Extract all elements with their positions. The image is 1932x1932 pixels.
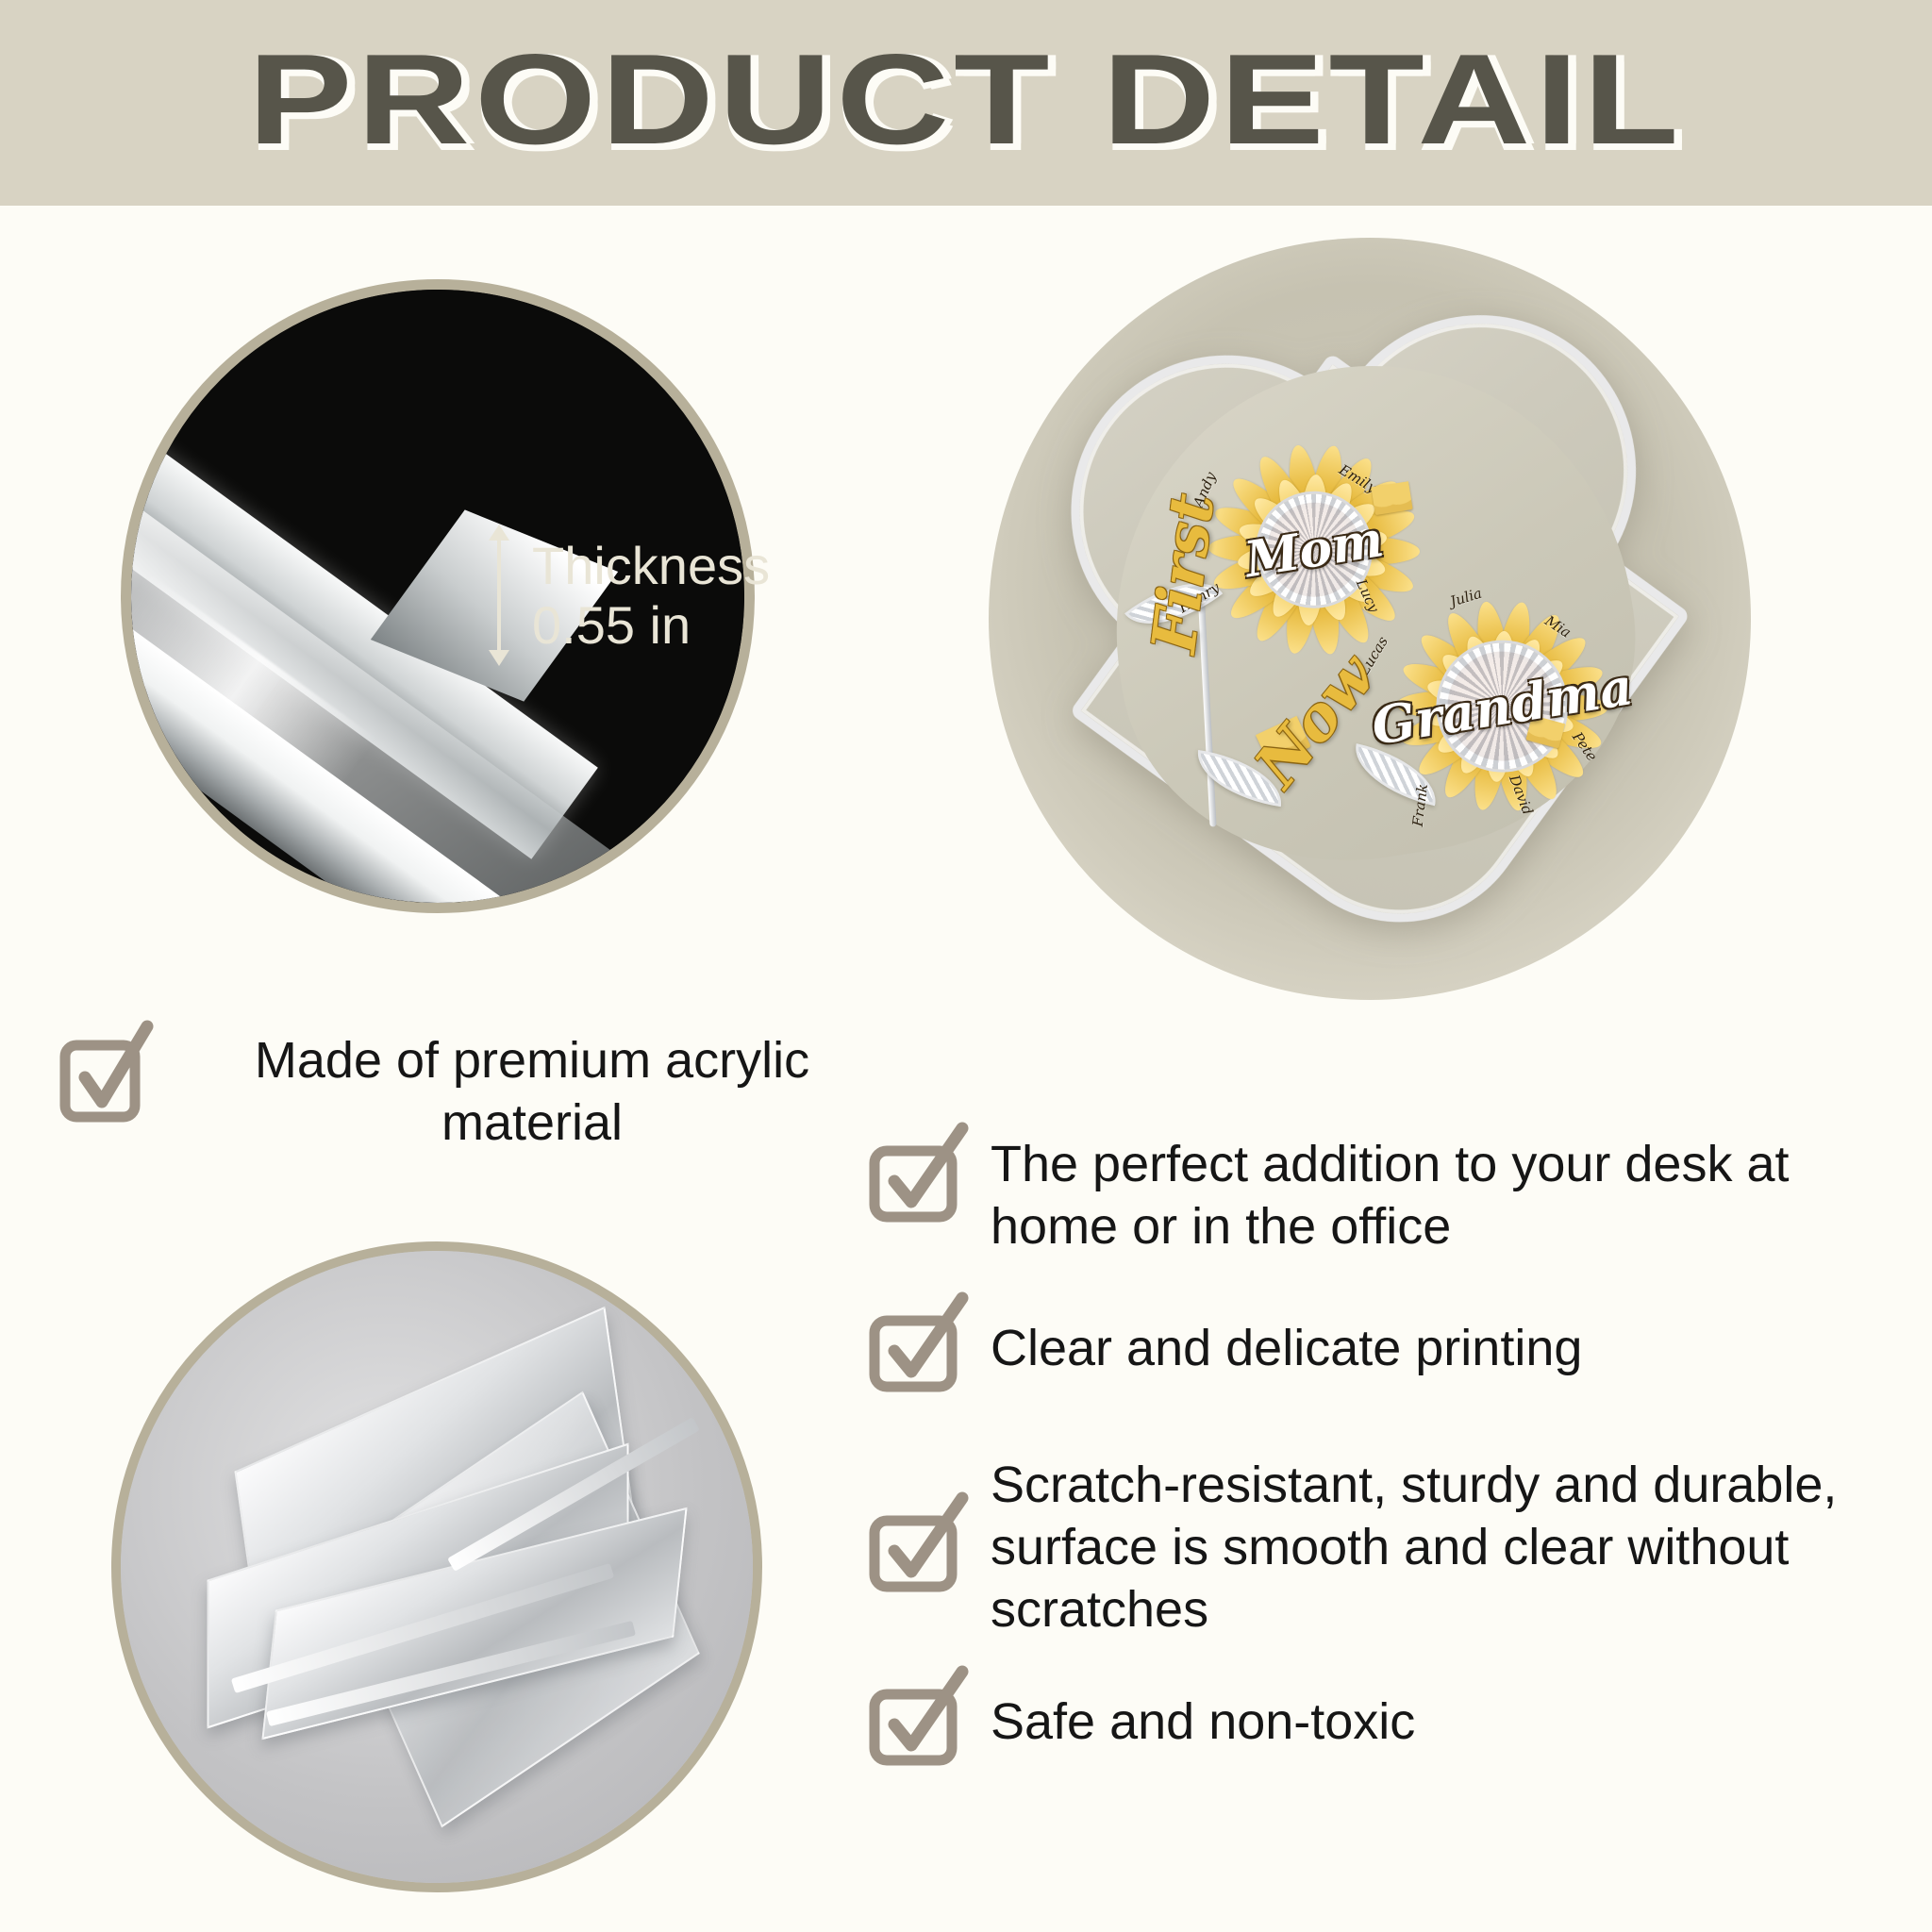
- header-band: PRODUCT DETAIL: [0, 0, 1932, 206]
- feature-item-clear-printing: Clear and delicate printing: [870, 1304, 1907, 1394]
- thickness-label: Thickness 0.55 in: [532, 536, 770, 656]
- feature-item-desk-addition: The perfect addition to your desk at hom…: [870, 1134, 1907, 1258]
- thickness-line-1: Thickness: [532, 536, 770, 595]
- blocks-photo-canvas: [121, 1251, 753, 1883]
- sunflower-grandma: Grandma Lucas Julia Mia Pete David Frank: [1320, 524, 1685, 889]
- page-title: PRODUCT DETAIL: [248, 35, 1684, 171]
- acrylic-blocks-photo: [111, 1241, 762, 1892]
- thickness-callout: Thickness 0.55 in: [487, 525, 770, 666]
- feature-label: Clear and delicate printing: [991, 1318, 1582, 1380]
- feature-item-scratch-resistant: Scratch-resistant, sturdy and durable, s…: [870, 1455, 1907, 1641]
- checkbox-checked-icon: [870, 1677, 964, 1768]
- checkbox-checked-icon: [58, 1030, 149, 1124]
- sunflower-heart-acrylic-plaque: First Now Mom Andy Emily Henry Lucy Gran…: [989, 238, 1751, 1000]
- feature-label: The perfect addition to your desk at hom…: [991, 1134, 1907, 1258]
- thickness-line-2: 0.55 in: [532, 595, 770, 655]
- double-headed-vertical-arrow-icon: [487, 525, 511, 666]
- feature-item-acrylic-material: Made of premium acrylic material: [58, 1030, 889, 1155]
- checkbox-checked-icon: [870, 1134, 964, 1224]
- feature-label: Scratch-resistant, sturdy and durable, s…: [991, 1455, 1907, 1641]
- checkbox-checked-icon: [870, 1304, 964, 1394]
- feature-item-safe-non-toxic: Safe and non-toxic: [870, 1677, 1907, 1768]
- checkbox-checked-icon: [870, 1504, 964, 1594]
- feature-label: Made of premium acrylic material: [175, 1030, 889, 1155]
- heart-plaque: First Now Mom Andy Emily Henry Lucy Gran…: [1039, 286, 1705, 937]
- feature-label: Safe and non-toxic: [991, 1691, 1415, 1754]
